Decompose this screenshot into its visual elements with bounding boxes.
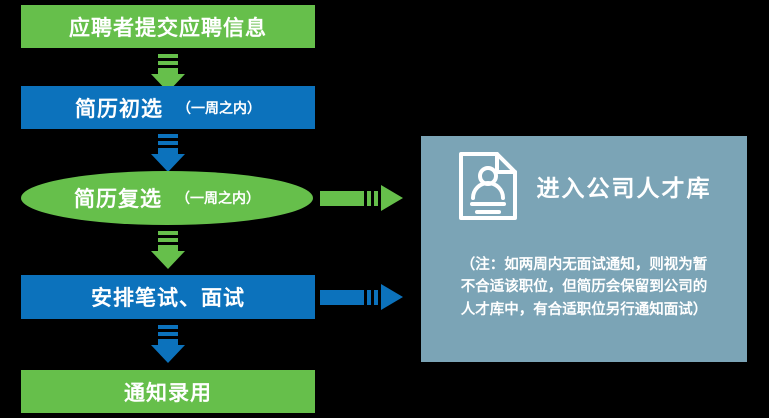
talent-pool-note-line-3: 人才库中，有合适职位另行通知面试） [435, 299, 733, 321]
flow-node-resume-first-screening-sublabel: （一周之内） [177, 98, 261, 118]
connector-arrow-down-interview-to-offer [151, 325, 185, 363]
arrow-bar-2 [158, 332, 178, 336]
flowchart-canvas: 应聘者提交应聘信息 简历初选 （一周之内） 简历复选 （一周之内） [0, 0, 769, 418]
arrow-bar-1 [158, 325, 178, 329]
arrow-head [381, 185, 403, 211]
flow-node-resume-first-screening-label: 简历初选 [75, 93, 163, 123]
arrow-shaft [320, 290, 364, 305]
arrow-shaft [320, 191, 364, 206]
connector-arrow-down-screen1-to-screen2 [151, 134, 185, 172]
flow-node-submit-application[interactable]: 应聘者提交应聘信息 [21, 5, 315, 48]
resume-person-document-icon [457, 150, 519, 222]
talent-pool-panel-title: 进入公司人才库 [537, 169, 712, 203]
flow-node-resume-second-screening[interactable]: 简历复选 （一周之内） [21, 171, 313, 225]
talent-pool-note-line-2: 不合适该职位，但简历会保留到公司的 [435, 276, 733, 298]
flow-node-resume-first-screening[interactable]: 简历初选 （一周之内） [21, 86, 315, 129]
talent-pool-note-line-1: （注：如两周内无面试通知，则视为暂 [435, 254, 733, 276]
flow-node-submit-application-label: 应聘者提交应聘信息 [69, 12, 267, 42]
connector-arrow-right-interview-to-talent-pool [320, 284, 403, 310]
talent-pool-panel-header: 进入公司人才库 [421, 150, 747, 222]
arrow-bar-1 [158, 231, 178, 235]
arrow-head [151, 345, 185, 363]
arrow-tick-1 [367, 191, 371, 206]
flow-node-resume-second-screening-sublabel: （一周之内） [176, 188, 260, 208]
flow-node-schedule-written-and-interview-label: 安排笔试、面试 [91, 282, 245, 312]
arrow-bar-1 [158, 134, 178, 138]
flow-node-resume-second-screening-label: 简历复选 [74, 183, 162, 213]
talent-pool-panel-note: （注：如两周内无面试通知，则视为暂 不合适该职位，但简历会保留到公司的 人才库中… [421, 254, 747, 321]
arrow-head [381, 284, 403, 310]
arrow-head [151, 154, 185, 172]
arrow-bar-2 [158, 61, 178, 65]
flow-node-schedule-written-and-interview[interactable]: 安排笔试、面试 [21, 275, 315, 319]
connector-arrow-down-screen2-to-interview [151, 231, 185, 269]
arrow-bar-2 [158, 141, 178, 145]
flow-node-notify-offer[interactable]: 通知录用 [21, 370, 315, 413]
arrow-bar-1 [158, 54, 178, 58]
connector-arrow-right-screen2-to-talent-pool [320, 185, 403, 211]
flow-node-notify-offer-label: 通知录用 [124, 377, 212, 407]
arrow-bar-2 [158, 238, 178, 242]
arrow-head [151, 251, 185, 269]
arrow-tick-2 [374, 290, 378, 305]
arrow-tick-2 [374, 191, 378, 206]
talent-pool-panel[interactable]: 进入公司人才库 （注：如两周内无面试通知，则视为暂 不合适该职位，但简历会保留到… [421, 136, 747, 362]
arrow-tick-1 [367, 290, 371, 305]
